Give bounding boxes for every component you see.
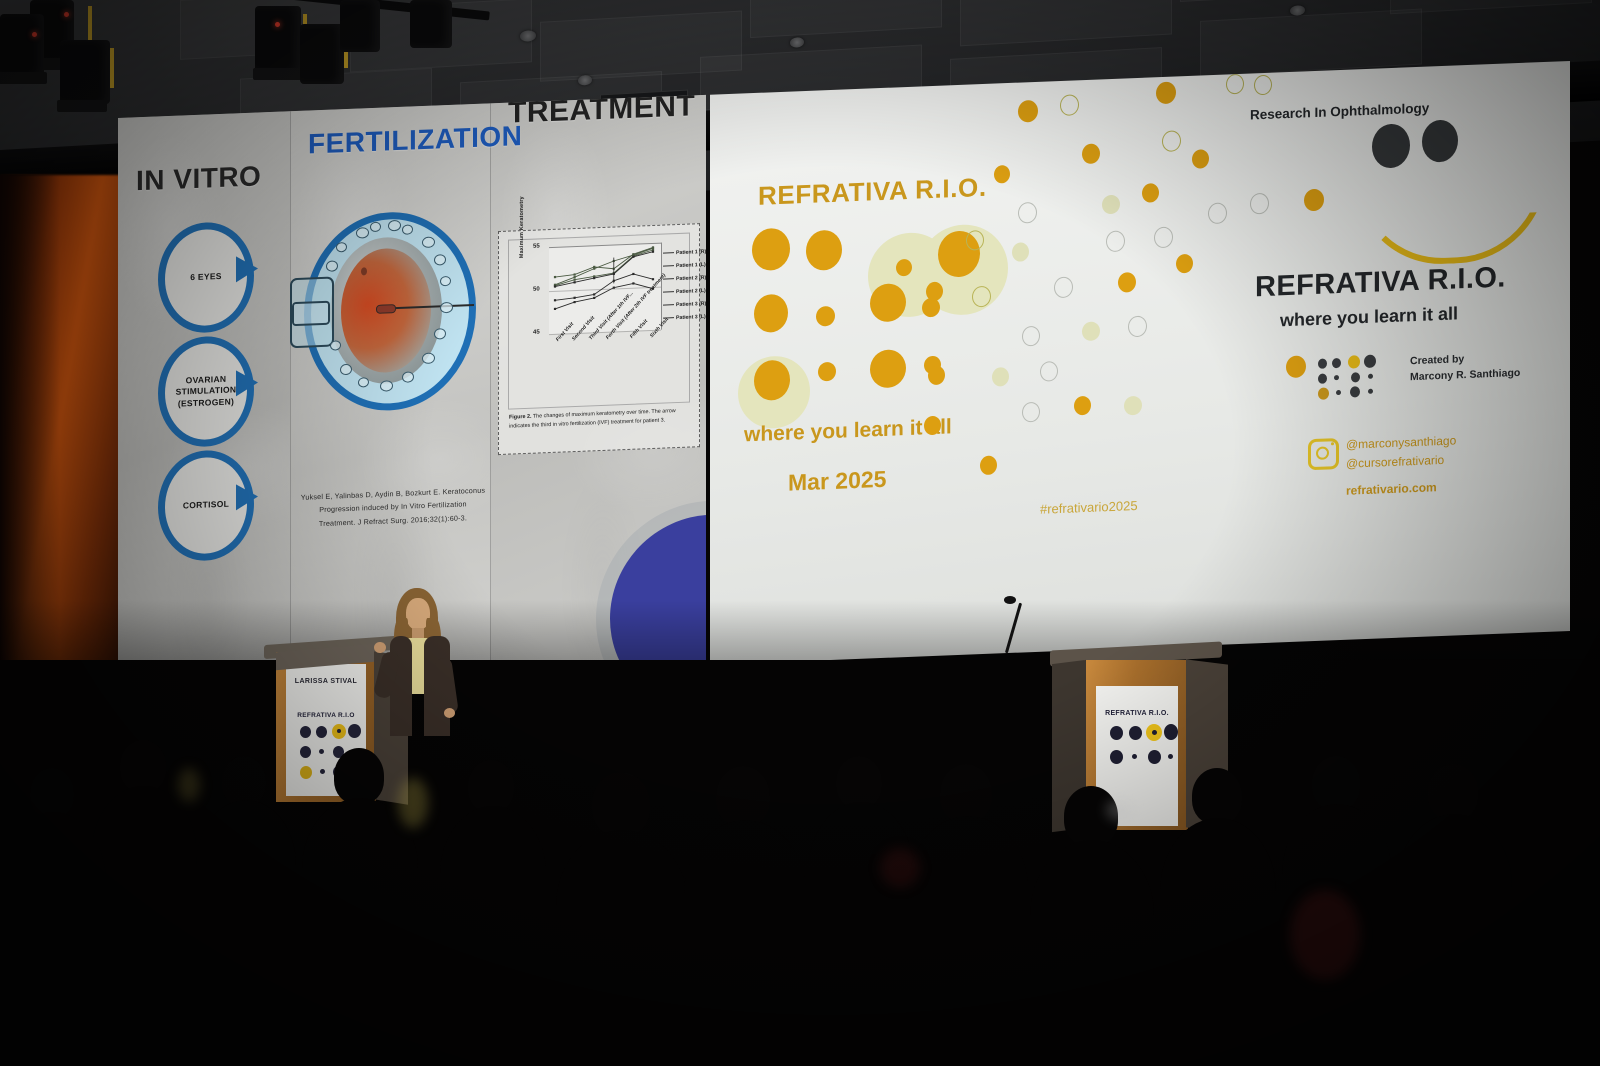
scatter-dot — [1118, 272, 1136, 293]
scatter-dot-pale — [1124, 396, 1142, 416]
brand-dot — [870, 283, 906, 322]
scatter-ring — [1054, 276, 1073, 298]
slide-right: REFRATIVA R.I.O. where you learn it all … — [710, 61, 1570, 665]
heading-in-vitro: IN VITRO — [136, 160, 261, 197]
bubble-tail — [236, 483, 258, 510]
conference-stage-photo: IN VITRO FERTILIZATION TREATMENT 6 EYES … — [0, 0, 1600, 1066]
brand-dot — [922, 298, 940, 318]
rio-title-right: REFRATIVA R.I.O. — [1255, 261, 1506, 304]
rio-tagline-right: where you learn it all — [1280, 303, 1458, 331]
figure-caption: Figure 2. The changes of maximum keratom… — [509, 407, 689, 431]
audience-red-glow — [1290, 890, 1360, 980]
logo-smile — [1355, 170, 1547, 268]
brand-dot — [818, 362, 836, 382]
scatter-dot — [1304, 189, 1324, 212]
scatter-ring — [1208, 202, 1227, 224]
scatter-ring — [1254, 75, 1272, 96]
scatter-ring — [1106, 230, 1125, 252]
oocyte-icsi-illustration — [304, 209, 476, 414]
podium-brand: REFRATIVA R.I.O — [286, 712, 366, 719]
brand-dot — [806, 230, 842, 271]
chart-legend-item: Patient 2 (L) — [663, 288, 706, 296]
figure-caption-label: Figure 2. — [509, 414, 531, 421]
scatter-ring — [1250, 193, 1269, 215]
scatter-dot — [994, 165, 1010, 184]
bubble-tail — [236, 255, 258, 282]
logo-eye-right — [1422, 119, 1458, 162]
chart-ytick: 45 — [533, 329, 540, 335]
instagram-icon — [1308, 438, 1339, 470]
scatter-ring — [1022, 402, 1040, 423]
rio-title-left: REFRATIVA R.I.O. — [758, 172, 987, 212]
research-in-ophthalmology-label: Research In Ophthalmology — [1250, 100, 1429, 122]
logo-eye-left — [1372, 123, 1410, 168]
chart-ytick: 50 — [533, 286, 540, 292]
rio-hashtag: #refrativario2025 — [1040, 498, 1138, 517]
chart-legend-item: Patient 3 (R) — [663, 301, 706, 309]
scatter-dot — [1286, 355, 1306, 378]
scatter-dot-pale — [992, 367, 1009, 387]
scatter-ring — [1022, 326, 1040, 347]
scatter-dot-pale — [1012, 242, 1029, 262]
bubble-label: 6 EYES — [190, 271, 222, 284]
scatter-dot — [1156, 81, 1176, 104]
chart-legend-item: Patient 3 (L) — [663, 314, 706, 322]
scatter-dot — [928, 366, 945, 386]
bubble-label: CORTISOL — [183, 499, 229, 512]
scatter-dot-pale — [1082, 321, 1100, 341]
scatter-dot — [1018, 100, 1038, 123]
scatter-ring — [1154, 227, 1173, 249]
scatter-dot — [980, 455, 997, 475]
podium-brand: REFRATIVA R.I.O. — [1096, 710, 1178, 717]
brand-dot — [870, 349, 906, 388]
scatter-dot — [1176, 254, 1193, 274]
figure-caption-text: The changes of maximum keratometry over … — [509, 408, 676, 429]
created-by-name: Marcony R. Santhiago — [1410, 367, 1520, 383]
audience-phone-glow — [1106, 800, 1132, 820]
scatter-ring — [1162, 130, 1181, 152]
brand-dot — [752, 228, 790, 271]
scatter-ring — [1060, 94, 1079, 116]
scatter-ring — [1040, 361, 1058, 382]
scatter-ring — [1018, 202, 1037, 224]
chart-legend-item: Patient 1 (R) — [663, 249, 706, 257]
chart-legend-item: Patient 1 (L) — [663, 262, 706, 270]
instagram-handle-1: @marconysanthiago — [1346, 433, 1456, 451]
scatter-dot-pale — [1102, 195, 1120, 215]
projection-screen: IN VITRO FERTILIZATION TREATMENT 6 EYES … — [118, 61, 1570, 688]
scatter-dot — [1192, 149, 1209, 169]
scatter-ring — [1226, 74, 1244, 95]
rio-date: Mar 2025 — [788, 466, 886, 497]
created-by-label: Created by — [1410, 353, 1464, 367]
instagram-handle-2: @cursorefrativario — [1346, 452, 1444, 470]
website-url: refrativario.com — [1346, 480, 1437, 498]
created-by-text: Created by Marcony R. Santhiago — [1410, 349, 1520, 386]
podium-speaker-name: LARISSA STIVAL — [286, 678, 366, 685]
bubble-label: OVARIAN STIMULATION (ESTROGEN) — [165, 373, 247, 411]
chart-legend-item: Patient 2 (R) — [663, 275, 706, 283]
figure-box: Maximum Keratometry 55 50 45 First Visit… — [498, 223, 700, 455]
audience-yellow-glow — [178, 768, 200, 802]
scatter-ring — [1128, 316, 1147, 338]
scatter-dot — [1074, 396, 1091, 416]
citation-text: Yuksel E, Yalinbas D, Aydin B, Bozkurt E… — [300, 484, 486, 531]
audience-red-glow — [880, 848, 920, 888]
chart-ytick: 55 — [533, 243, 540, 249]
scatter-dot — [1142, 183, 1159, 203]
speaker-at-podium — [372, 588, 462, 768]
brand-dot — [754, 294, 788, 333]
audience-yellow-glow — [398, 778, 428, 828]
instagram-handles: @marconysanthiago @cursorefrativario — [1346, 431, 1456, 473]
chart-y-axis-label: Maximum Keratometry — [519, 196, 525, 258]
bubble-tail — [236, 369, 258, 396]
scatter-dot — [1082, 143, 1100, 164]
brand-dot — [816, 306, 835, 327]
